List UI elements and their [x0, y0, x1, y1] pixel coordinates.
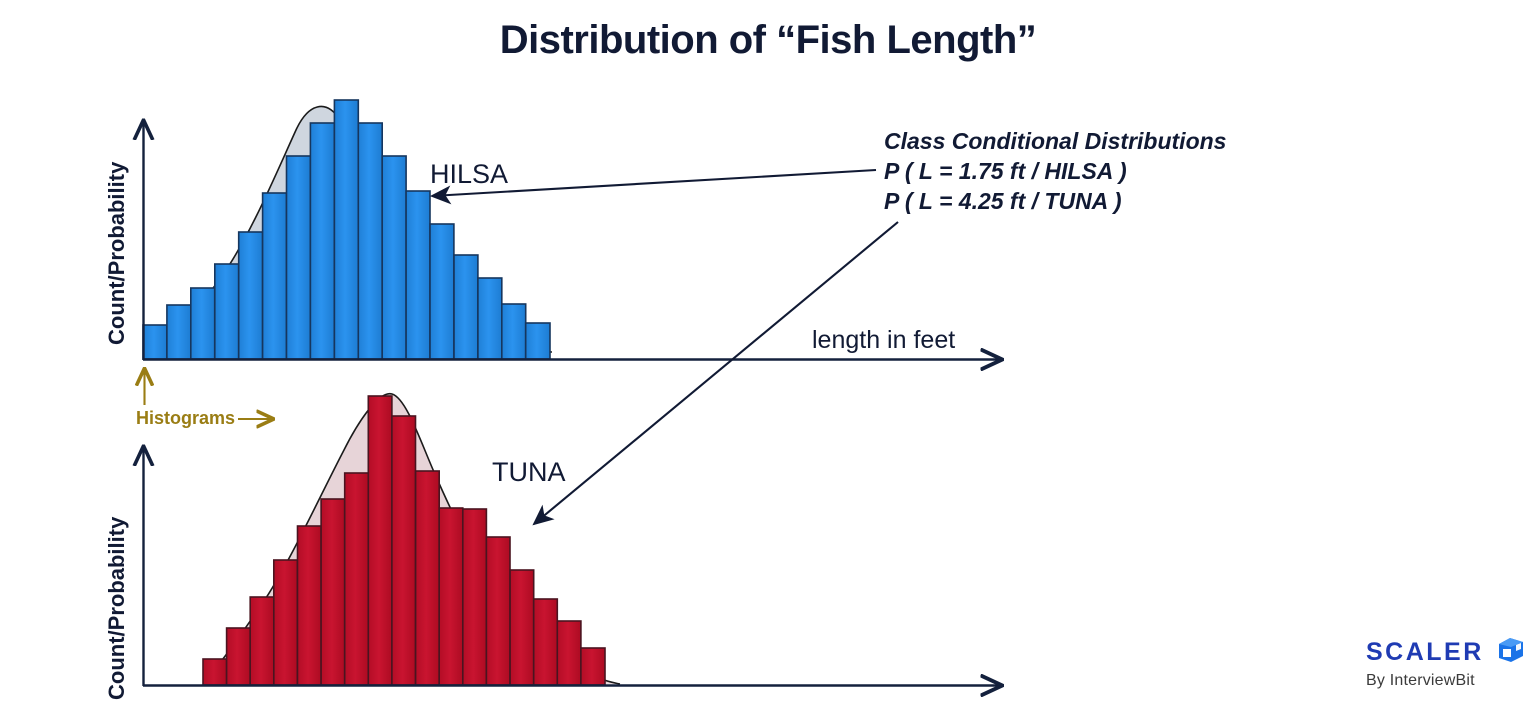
tuna-bar — [463, 509, 487, 685]
hilsa-bar — [310, 123, 334, 359]
tuna-bar — [298, 526, 322, 685]
tuna-bar — [581, 648, 605, 685]
hilsa-bar — [239, 232, 263, 359]
annotation-block: Class Conditional Distributions P ( L = … — [884, 126, 1226, 216]
slide-canvas: Distribution of “Fish Length” — [0, 0, 1536, 714]
hilsa-bar — [263, 193, 287, 359]
hilsa-bar — [406, 191, 430, 359]
annotation-line-1: P ( L = 1.75 ft / HILSA ) — [884, 156, 1226, 186]
hilsa-bar — [478, 278, 502, 359]
hilsa-bar — [167, 305, 191, 359]
hilsa-bar — [382, 156, 406, 359]
x-axis-label: length in feet — [812, 326, 955, 355]
tuna-bar — [510, 570, 534, 685]
hilsa-bar — [143, 325, 167, 359]
series-label-tuna: TUNA — [492, 457, 566, 488]
hilsa-bar — [502, 304, 526, 359]
hilsa-bar — [287, 156, 311, 359]
series-label-hilsa: HILSA — [430, 159, 508, 190]
hilsa-bar — [430, 224, 454, 359]
tuna-bar — [557, 621, 581, 685]
y-axis-label-top: Count/Probability — [104, 162, 130, 345]
tuna-leader-arrow — [534, 222, 898, 524]
y-axis-label-bottom: Count/Probability — [104, 517, 130, 700]
panel-hilsa — [143, 100, 1000, 360]
tuna-bar — [392, 416, 416, 685]
hilsa-bar — [191, 288, 215, 359]
tuna-bar — [416, 471, 440, 685]
logo-wordmark: SCALER — [1366, 638, 1484, 667]
tuna-bar — [368, 396, 392, 685]
hilsa-bar — [358, 123, 382, 359]
scaler-logo[interactable]: SCALER By InterviewBit — [1366, 636, 1526, 690]
hilsa-bar — [454, 255, 478, 359]
tuna-bar — [345, 473, 369, 685]
chart-layer — [0, 0, 1536, 714]
annotation-line-2: P ( L = 4.25 ft / TUNA ) — [884, 186, 1226, 216]
hilsa-bar — [526, 323, 550, 359]
tuna-bar — [439, 508, 463, 685]
panel-tuna — [143, 394, 1000, 686]
tuna-bar — [534, 599, 558, 685]
tuna-bar — [227, 628, 251, 685]
logo-subtitle: By InterviewBit — [1366, 672, 1526, 690]
hilsa-bar — [215, 264, 239, 359]
tuna-bar — [250, 597, 274, 685]
annotation-heading: Class Conditional Distributions — [884, 126, 1226, 156]
tuna-bar — [274, 560, 298, 685]
cube-icon — [1496, 636, 1526, 669]
tuna-bar — [321, 499, 345, 685]
tuna-bar — [203, 659, 227, 685]
histograms-note-label: Histograms — [136, 408, 235, 429]
tuna-bar — [486, 537, 510, 685]
hilsa-bar — [334, 100, 358, 359]
